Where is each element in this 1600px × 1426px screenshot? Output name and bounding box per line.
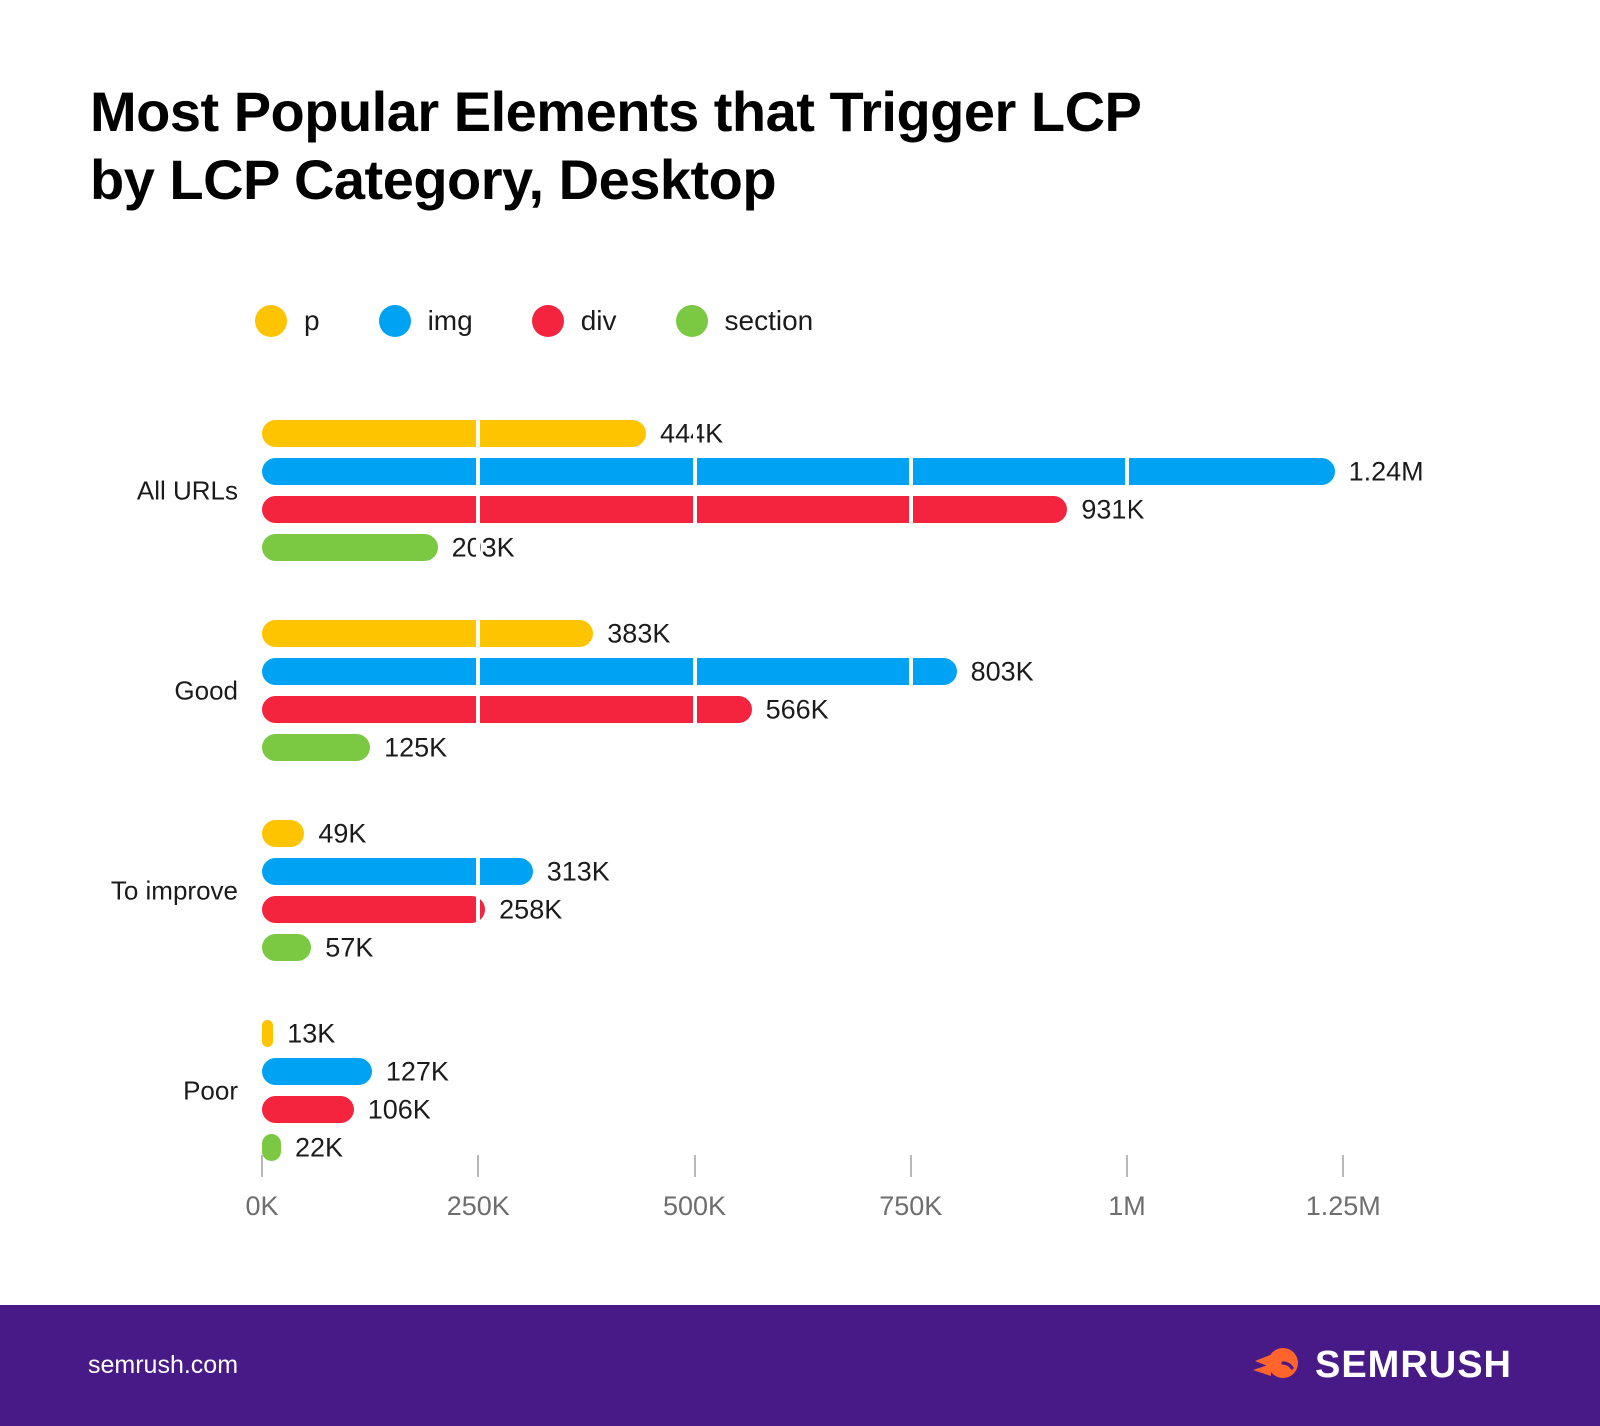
category-label-good: Good bbox=[0, 675, 238, 706]
bar-good-p[interactable]: 383K bbox=[262, 620, 593, 647]
bar-fill bbox=[262, 858, 533, 885]
bar-value-label: 258K bbox=[499, 894, 562, 925]
bar-all-urls-section[interactable]: 203K bbox=[262, 534, 438, 561]
bar-good-section[interactable]: 125K bbox=[262, 734, 370, 761]
gridline bbox=[1341, 420, 1345, 1172]
bar-all-urls-div[interactable]: 931K bbox=[262, 496, 1067, 523]
x-tick-label: 1M bbox=[1108, 1191, 1146, 1222]
semrush-comet-icon bbox=[1253, 1341, 1301, 1390]
bar-fill bbox=[262, 1020, 273, 1047]
bar-fill bbox=[262, 658, 957, 685]
chart-plot-area: 444K1.24M931K203KAll URLs383K803K566K125… bbox=[0, 0, 1600, 1280]
x-axis: 0K250K500K750K1M1.25M bbox=[0, 1155, 1600, 1245]
x-tick-label: 250K bbox=[447, 1191, 510, 1222]
bar-fill bbox=[262, 1096, 354, 1123]
gridline bbox=[693, 420, 697, 1172]
bar-value-label: 931K bbox=[1081, 494, 1144, 525]
bar-poor-img[interactable]: 127K bbox=[262, 1058, 372, 1085]
x-tick-mark bbox=[1342, 1155, 1344, 1177]
bar-fill bbox=[262, 896, 485, 923]
bar-fill bbox=[262, 458, 1335, 485]
bar-value-label: 313K bbox=[547, 856, 610, 887]
bar-value-label: 383K bbox=[607, 618, 670, 649]
gridline bbox=[476, 420, 480, 1172]
category-label-poor: Poor bbox=[0, 1075, 238, 1106]
x-tick-mark bbox=[910, 1155, 912, 1177]
gridline bbox=[909, 420, 913, 1172]
x-tick-mark bbox=[477, 1155, 479, 1177]
bar-value-label: 566K bbox=[766, 694, 829, 725]
bar-poor-div[interactable]: 106K bbox=[262, 1096, 354, 1123]
bar-good-img[interactable]: 803K bbox=[262, 658, 957, 685]
category-label-all-urls: All URLs bbox=[0, 475, 238, 506]
bar-fill bbox=[262, 1058, 372, 1085]
bar-fill bbox=[262, 934, 311, 961]
footer-bar: semrush.com SEMRUSH bbox=[0, 1305, 1600, 1426]
x-tick-label: 1.25M bbox=[1306, 1191, 1381, 1222]
bar-value-label: 57K bbox=[325, 932, 373, 963]
bar-to-improve-img[interactable]: 313K bbox=[262, 858, 533, 885]
x-tick-mark bbox=[1126, 1155, 1128, 1177]
bar-to-improve-section[interactable]: 57K bbox=[262, 934, 311, 961]
bar-value-label: 127K bbox=[386, 1056, 449, 1087]
x-tick-label: 750K bbox=[879, 1191, 942, 1222]
bar-value-label: 1.24M bbox=[1349, 456, 1424, 487]
semrush-wordmark: SEMRUSH bbox=[1315, 1344, 1512, 1387]
bar-fill bbox=[262, 420, 646, 447]
bar-good-div[interactable]: 566K bbox=[262, 696, 752, 723]
bar-fill bbox=[262, 496, 1067, 523]
bar-to-improve-div[interactable]: 258K bbox=[262, 896, 485, 923]
bar-fill bbox=[262, 820, 304, 847]
bar-to-improve-p[interactable]: 49K bbox=[262, 820, 304, 847]
bar-poor-p[interactable]: 13K bbox=[262, 1020, 273, 1047]
gridline bbox=[1125, 420, 1129, 1172]
x-tick-label: 500K bbox=[663, 1191, 726, 1222]
bar-value-label: 106K bbox=[368, 1094, 431, 1125]
bar-value-label: 803K bbox=[971, 656, 1034, 687]
x-tick-mark bbox=[694, 1155, 696, 1177]
bar-fill bbox=[262, 696, 752, 723]
bar-value-label: 13K bbox=[287, 1018, 335, 1049]
bar-all-urls-img[interactable]: 1.24M bbox=[262, 458, 1335, 485]
category-label-to-improve: To improve bbox=[0, 875, 238, 906]
footer-url[interactable]: semrush.com bbox=[88, 1351, 238, 1380]
bar-fill bbox=[262, 620, 593, 647]
bar-value-label: 49K bbox=[318, 818, 366, 849]
x-tick-mark bbox=[261, 1155, 263, 1177]
x-tick-label: 0K bbox=[245, 1191, 278, 1222]
bar-value-label: 125K bbox=[384, 732, 447, 763]
bar-fill bbox=[262, 734, 370, 761]
semrush-logo: SEMRUSH bbox=[1253, 1341, 1512, 1390]
bar-value-label: 203K bbox=[452, 532, 515, 563]
bar-all-urls-p[interactable]: 444K bbox=[262, 420, 646, 447]
bar-fill bbox=[262, 534, 438, 561]
